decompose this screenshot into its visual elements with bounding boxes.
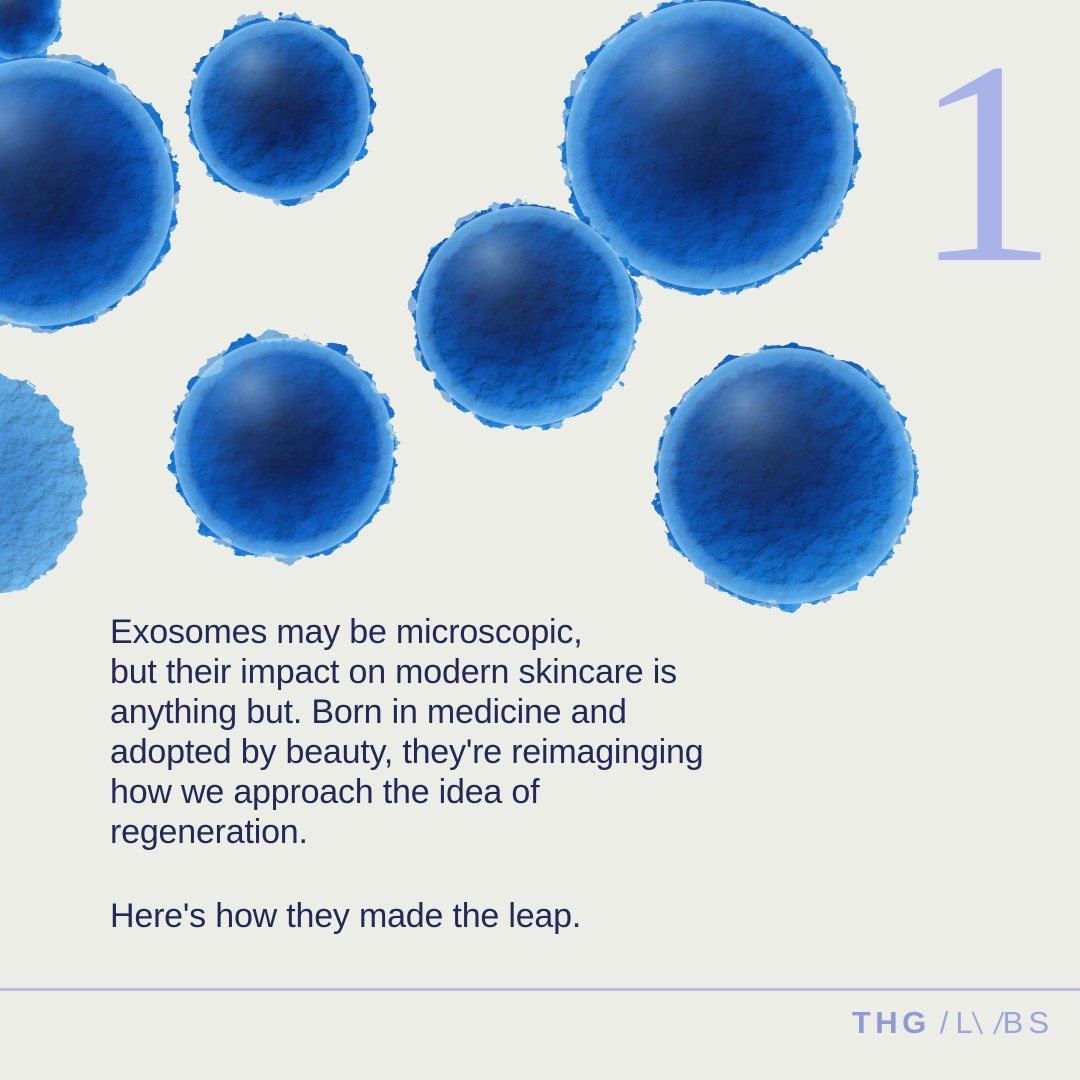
logo-labs-l: L xyxy=(955,1007,977,1038)
sphere-bottom-left xyxy=(172,336,396,560)
step-number: 1 xyxy=(913,18,1058,308)
copy-paragraph-secondary: Here's how they made the leap. xyxy=(110,896,870,936)
thg-labs-logo: THG / L BS xyxy=(852,1007,1054,1038)
copy-line: adopted by beauty, they're reimaginging xyxy=(110,732,870,772)
logo-labs-bs: BS xyxy=(1003,1007,1054,1038)
copy-line: how we approach the idea of xyxy=(110,772,870,812)
copy-line: regeneration. xyxy=(110,812,870,852)
logo-separator: / xyxy=(940,1007,949,1038)
sphere-right xyxy=(656,346,916,606)
copy-line: but their impact on modern skincare is xyxy=(110,652,870,692)
copy-line: anything but. Born in medicine and xyxy=(110,692,870,732)
body-copy: Exosomes may be microscopic, but their i… xyxy=(110,612,870,936)
sphere-small-top xyxy=(187,17,373,203)
sphere-middle xyxy=(414,204,638,428)
copy-line: Exosomes may be microscopic, xyxy=(110,612,870,652)
logo-labs-text: L BS xyxy=(955,1007,1054,1038)
copy-paragraph-primary: Exosomes may be microscopic, but their i… xyxy=(110,612,870,852)
sphere-fragment-corner xyxy=(0,0,64,62)
social-card: 1 Exosomes may be microscopic, but their… xyxy=(0,0,1080,1080)
sphere-faded-left-edge xyxy=(0,368,84,604)
lambda-a-icon xyxy=(978,1011,998,1034)
sphere-large-left xyxy=(0,55,177,329)
footer: THG / L BS xyxy=(0,991,1080,1080)
logo-thg-text: THG xyxy=(852,1007,931,1038)
